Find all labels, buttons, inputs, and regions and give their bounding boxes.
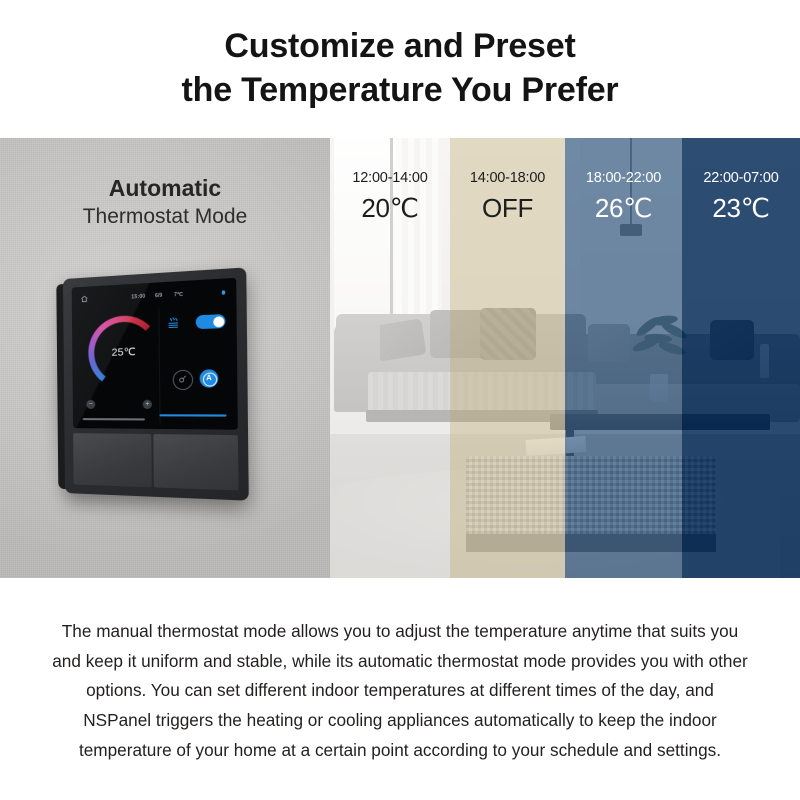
toggle-knob [213,316,224,327]
schedule-bands: 12:00-14:00 20℃ 14:00-18:00 OFF 18:00-22… [330,138,800,578]
dial-temperature-value: 25℃ [86,312,164,392]
status-dot-icon [221,290,225,294]
band-temperature-4: 23℃ [682,193,800,224]
left-panel-title-regular: Thermostat Mode [0,203,330,231]
home-icon[interactable] [80,295,88,306]
left-progress-bar[interactable] [83,419,145,421]
description-section: The manual thermostat mode allows you to… [0,578,800,800]
auto-mode-label: A [200,369,219,387]
nspanel-device[interactable]: 15:00 6/9 7℃ 25℃ − + [63,267,249,500]
schedule-band-1[interactable]: 12:00-14:00 20℃ [330,138,450,578]
right-physical-button[interactable] [153,434,238,490]
band-temperature-1: 20℃ [330,193,450,224]
device-screen[interactable]: 15:00 6/9 7℃ 25℃ − + [72,278,238,430]
status-outdoor-temp: 7℃ [174,291,183,298]
left-panel-title-bold: Automatic [0,174,330,203]
power-toggle[interactable] [196,314,226,329]
headline-line-1: Customize and Preset [224,25,575,69]
description-text: The manual thermostat mode allows you to… [50,617,750,765]
schedule-band-2[interactable]: 14:00-18:00 OFF [450,138,565,578]
hero-section: Automatic Thermostat Mode 15:00 6/9 7℃ [0,138,800,578]
band-temperature-3: 26℃ [565,193,682,224]
band-time-4: 22:00-07:00 [682,170,800,186]
device-physical-buttons [73,433,238,490]
left-physical-button[interactable] [73,433,152,487]
device-body: 15:00 6/9 7℃ 25℃ − + [63,267,249,500]
temperature-decrease-button[interactable]: − [86,400,95,409]
screen-status-bar: 15:00 6/9 7℃ [72,284,237,306]
temperature-dial[interactable]: 25℃ [86,312,164,392]
headline-line-2: the Temperature You Prefer [182,69,619,113]
status-time: 15:00 [131,293,145,300]
living-room-photo: 12:00-14:00 20℃ 14:00-18:00 OFF 18:00-22… [330,138,800,578]
schedule-band-4[interactable]: 22:00-07:00 23℃ [682,138,800,578]
status-date: 6/9 [155,292,162,299]
page-headline: Customize and Preset the Temperature You… [0,0,800,138]
heater-icon[interactable] [167,315,180,328]
auto-mode-button[interactable]: A [200,369,219,387]
band-time-2: 14:00-18:00 [450,170,565,186]
right-progress-bar[interactable] [159,414,226,416]
manual-mode-button[interactable] [173,370,194,390]
band-temperature-2: OFF [450,193,565,224]
band-time-1: 12:00-14:00 [330,170,450,186]
schedule-band-3[interactable]: 18:00-22:00 26℃ [565,138,682,578]
temperature-increase-button[interactable]: + [143,400,152,409]
band-time-3: 18:00-22:00 [565,170,682,186]
left-panel-title: Automatic Thermostat Mode [0,174,330,231]
